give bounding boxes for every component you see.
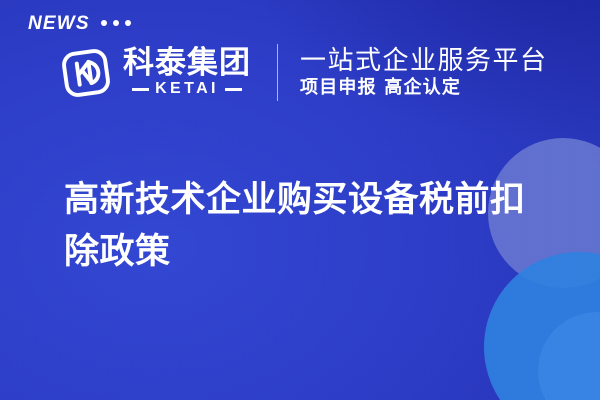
brand-name-en: KETAI	[155, 81, 219, 97]
page-title: 高新技术企业购买设备税前扣除政策	[64, 175, 544, 279]
brand-logo-group: 科泰集团 KETAI	[58, 45, 251, 101]
brand-divider	[277, 44, 278, 101]
tagline-secondary: 项目申报 高企认定	[300, 78, 548, 98]
ketai-logo-icon	[58, 45, 114, 101]
news-dot	[113, 20, 119, 26]
wordmark-rule-left	[132, 88, 149, 91]
brand-lockup: 科泰集团 KETAI 一站式企业服务平台 项目申报 高企认定	[58, 44, 548, 101]
tagline-primary: 一站式企业服务平台	[300, 47, 548, 75]
brand-tagline-group: 一站式企业服务平台 项目申报 高企认定	[300, 47, 548, 98]
wordmark-rule-right	[225, 88, 242, 91]
news-banner: NEWS 科泰集团	[0, 0, 600, 400]
news-dot	[101, 20, 107, 26]
news-label: NEWS	[28, 14, 90, 33]
news-dots-icon	[101, 20, 131, 27]
brand-wordmark: 科泰集团 KETAI	[123, 48, 251, 97]
brand-name-en-row: KETAI	[123, 81, 251, 97]
news-eyebrow: NEWS	[28, 14, 131, 33]
brand-name-cn: 科泰集团	[123, 48, 251, 79]
news-dot	[125, 20, 131, 26]
